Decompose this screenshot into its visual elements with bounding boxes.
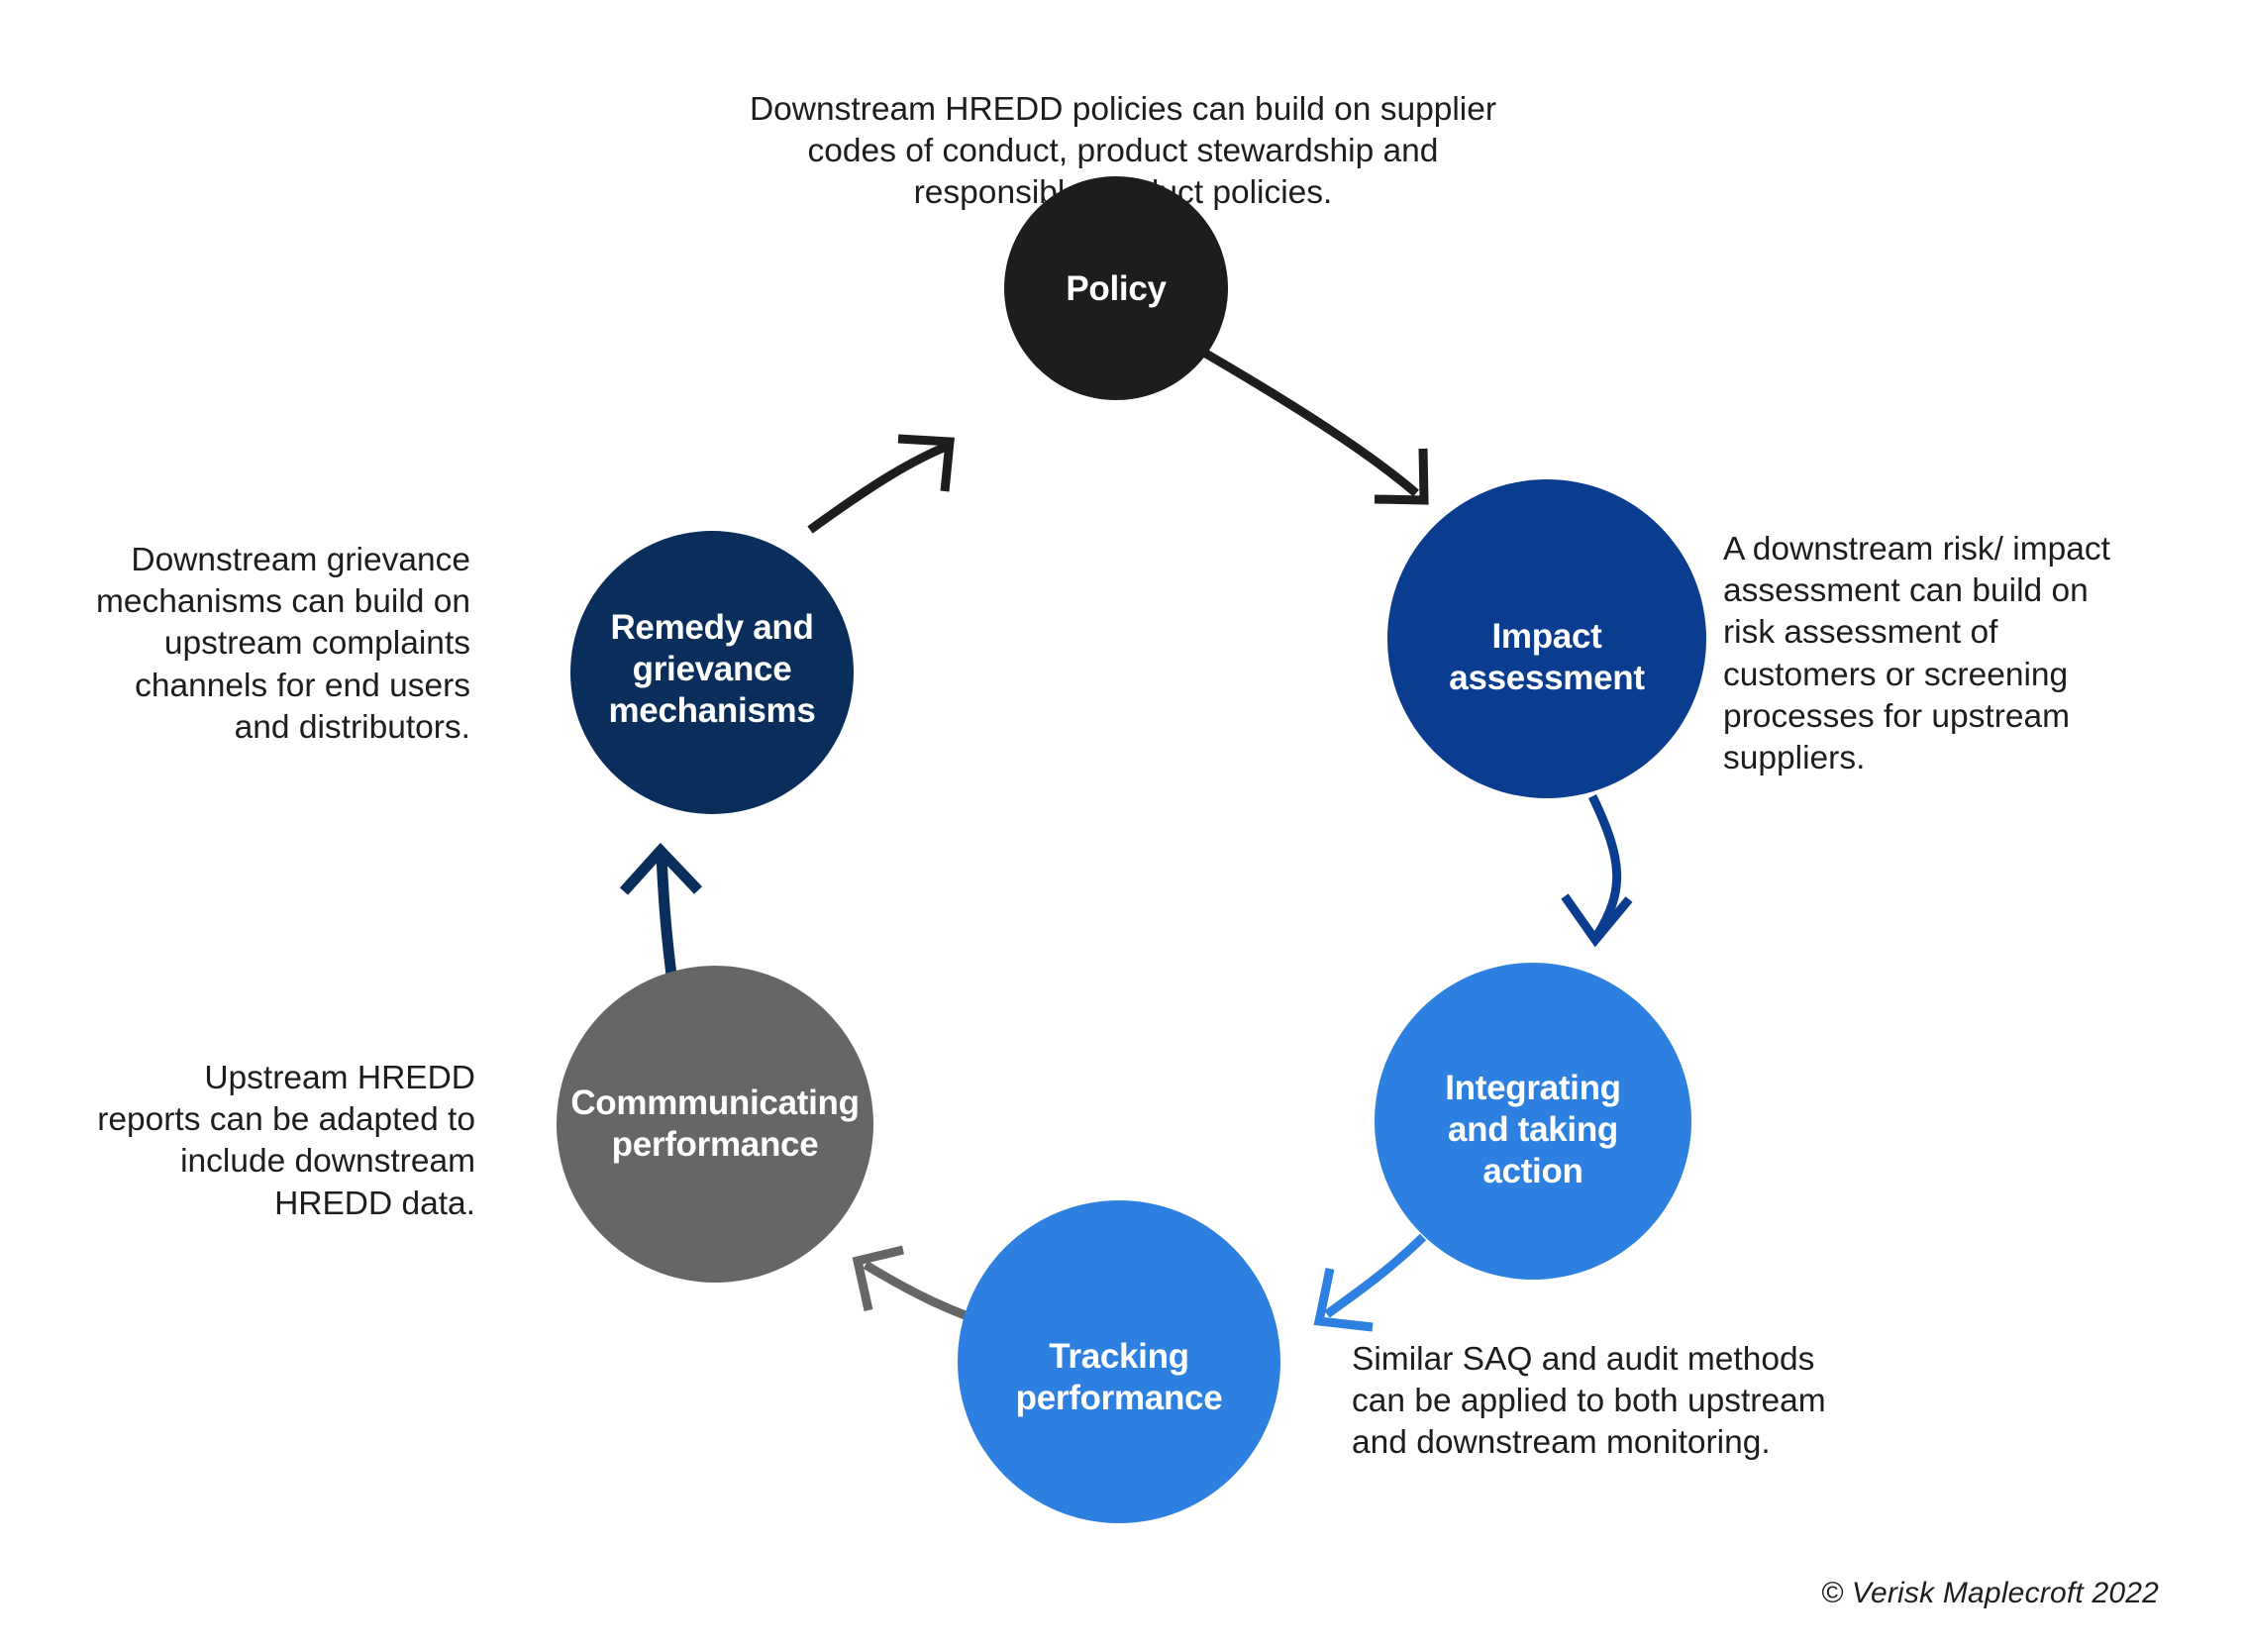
copyright-notice: © Verisk Maplecroft 2022 [1821,1577,2159,1610]
node-tracking-performance-label-line-1: Tracking [1049,1337,1189,1376]
node-policy-label: Policy [1066,269,1167,308]
node-integrating-label-line-1: Integrating [1445,1069,1621,1107]
arrow-remedy-to-policy [810,439,951,530]
node-tracking-performance-label-line-2: performance [1016,1379,1223,1417]
annotation-policy: Downstream HREDD policies can build on s… [727,89,1519,215]
annotation-impact-assessment: A downstream risk/ impact assessment can… [1723,529,2139,779]
node-commmunicating-performance[interactable]: Commmunicating performance [557,966,873,1283]
node-commmunicating-performance-circle[interactable] [557,966,873,1283]
node-remedy-label-line-3: mechanisms [608,691,815,730]
node-integrating-label-line-3: action [1482,1152,1582,1190]
annotation-monitoring: Similar SAQ and audit methods can be app… [1352,1339,1867,1465]
node-tracking-performance[interactable]: Tracking performance [958,1200,1280,1523]
node-remedy-and-grievance-mechanisms[interactable]: Remedy and grievance mechanisms [570,531,854,814]
node-integrating-label-line-2: and taking [1448,1110,1618,1149]
hredd-cycle-diagram: Policy Impact assessment Integrating and… [0,0,2246,1652]
arrow-policy-to-impact [1204,353,1424,500]
node-remedy-label-line-2: grievance [633,650,792,688]
node-integrating-and-taking-action[interactable]: Integrating and taking action [1375,963,1691,1280]
arrow-impact-to-integrating [1565,796,1629,940]
annotation-grievance-mechanisms: Downstream grievance mechanisms can buil… [94,540,470,749]
node-commmunicating-performance-label-line-2: performance [612,1125,819,1164]
node-impact-assessment[interactable]: Impact assessment [1387,479,1706,798]
diagram-canvas: Policy Impact assessment Integrating and… [0,0,2246,1652]
node-commmunicating-performance-label-line-1: Commmunicating [570,1084,859,1122]
node-remedy-label-line-1: Remedy and [610,608,813,647]
node-impact-assessment-label-line-1: Impact [1491,617,1602,656]
node-impact-assessment-label-line-2: assessment [1449,659,1645,697]
annotation-reporting: Upstream HREDD reports can be adapted to… [94,1058,475,1225]
arrow-integrating-to-tracking [1319,1237,1423,1327]
